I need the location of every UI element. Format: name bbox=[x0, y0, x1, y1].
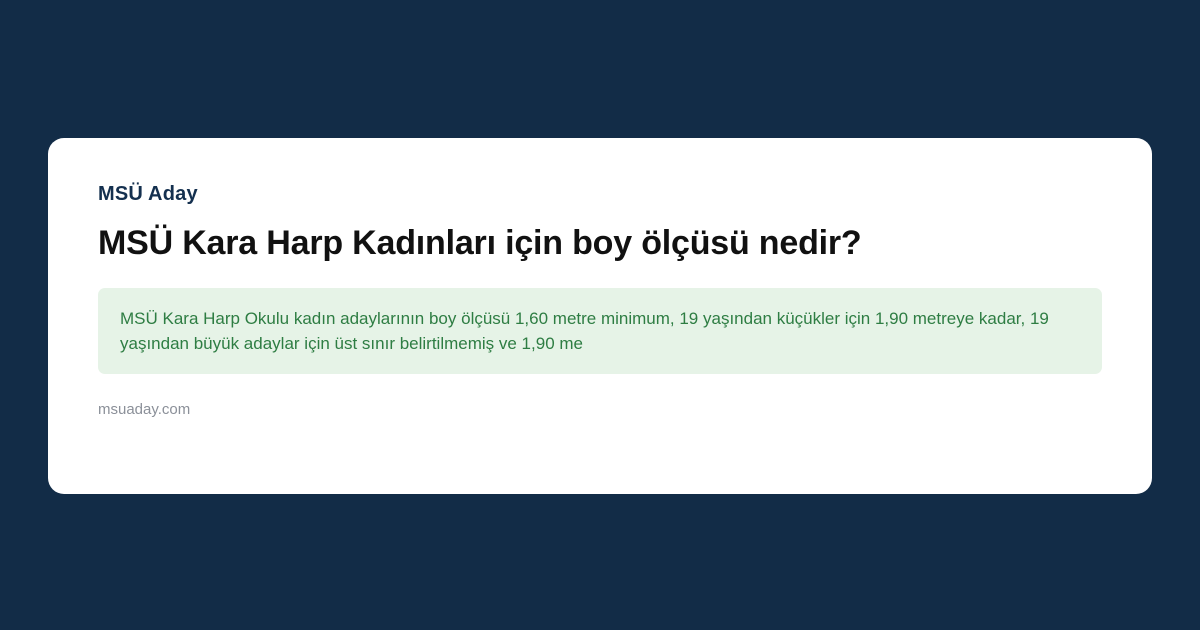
site-name: MSÜ Aday bbox=[98, 182, 1102, 206]
source-domain: msuaday.com bbox=[98, 400, 1102, 420]
share-preview-card: MSÜ Aday MSÜ Kara Harp Kadınları için bo… bbox=[48, 138, 1152, 494]
page-background: MSÜ Aday MSÜ Kara Harp Kadınları için bo… bbox=[0, 0, 1200, 630]
page-title: MSÜ Kara Harp Kadınları için boy ölçüsü … bbox=[98, 222, 1102, 264]
answer-text: MSÜ Kara Harp Okulu kadın adaylarının bo… bbox=[120, 306, 1082, 356]
answer-callout: MSÜ Kara Harp Okulu kadın adaylarının bo… bbox=[98, 288, 1102, 374]
